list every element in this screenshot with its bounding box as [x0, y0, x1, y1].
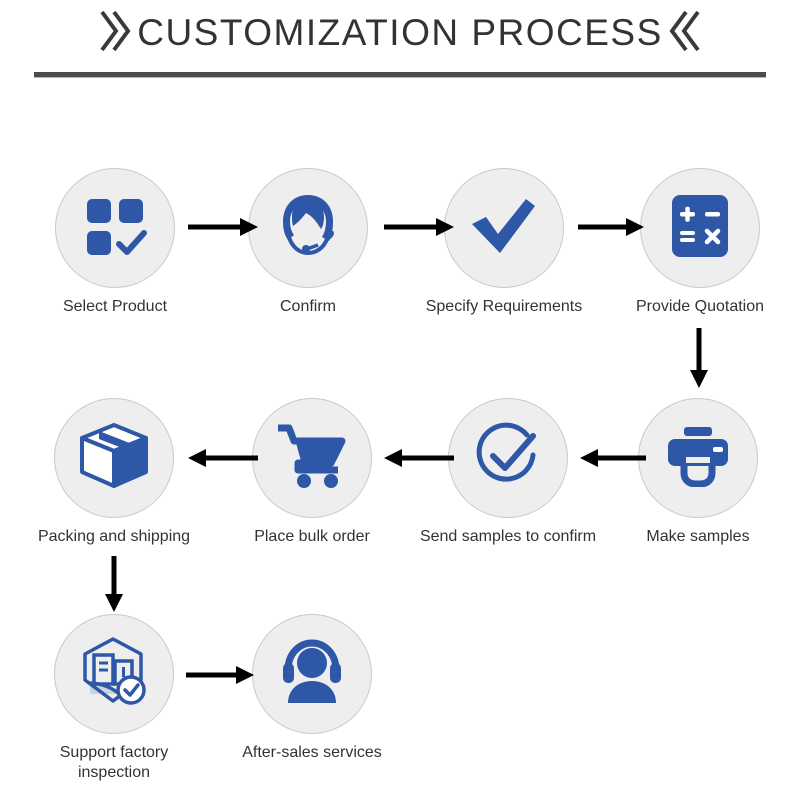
grid-squares-check-icon — [82, 193, 148, 264]
step-icon-circle — [248, 168, 368, 288]
process-step-select-product[interactable]: Select Product — [25, 168, 205, 317]
circle-check-icon — [471, 419, 545, 498]
step-label: After-sales services — [222, 743, 402, 763]
package-box-icon — [79, 422, 149, 495]
connector-arrow-left-2 — [382, 445, 454, 476]
step-icon-circle — [638, 398, 758, 518]
step-icon-circle — [448, 398, 568, 518]
step-label: Packing and shipping — [24, 527, 204, 547]
process-flow-diagram: Select Product Confirm — [0, 0, 800, 800]
connector-arrow-left-1 — [578, 445, 646, 476]
step-label: Make samples — [608, 527, 788, 547]
headset-person-icon — [275, 639, 349, 710]
connector-arrow-right-2 — [384, 214, 456, 245]
step-label: Support factory inspection — [24, 743, 204, 783]
step-icon-circle — [444, 168, 564, 288]
shopping-cart-icon — [276, 423, 348, 494]
step-icon-circle — [54, 614, 174, 734]
step-label: Place bulk order — [222, 527, 402, 547]
step-icon-circle — [55, 168, 175, 288]
connector-arrow-right-3 — [578, 214, 646, 245]
step-icon-circle — [54, 398, 174, 518]
checkmark-icon — [469, 193, 539, 264]
step-label: Select Product — [25, 297, 205, 317]
connector-arrow-down-left — [101, 556, 127, 619]
process-step-packing-and-shipping[interactable]: Packing and shipping — [24, 398, 204, 547]
process-step-support-factory-inspection[interactable]: Support factory inspection — [24, 614, 204, 783]
step-icon-circle — [640, 168, 760, 288]
connector-arrow-right-4 — [186, 662, 256, 693]
support-agent-icon — [272, 191, 344, 266]
step-label: Specify Requirements — [414, 297, 594, 317]
factory-inspection-shield-icon — [77, 636, 151, 713]
printer-icon — [663, 425, 733, 492]
connector-arrow-down-right — [686, 328, 712, 395]
step-label: Send samples to confirm — [418, 527, 598, 547]
step-icon-circle — [252, 398, 372, 518]
step-label: Confirm — [218, 297, 398, 317]
step-label: Provide Quotation — [610, 297, 790, 317]
step-icon-circle — [252, 614, 372, 734]
connector-arrow-left-3 — [186, 445, 258, 476]
calculator-icon — [669, 193, 731, 264]
connector-arrow-right-1 — [188, 214, 260, 245]
